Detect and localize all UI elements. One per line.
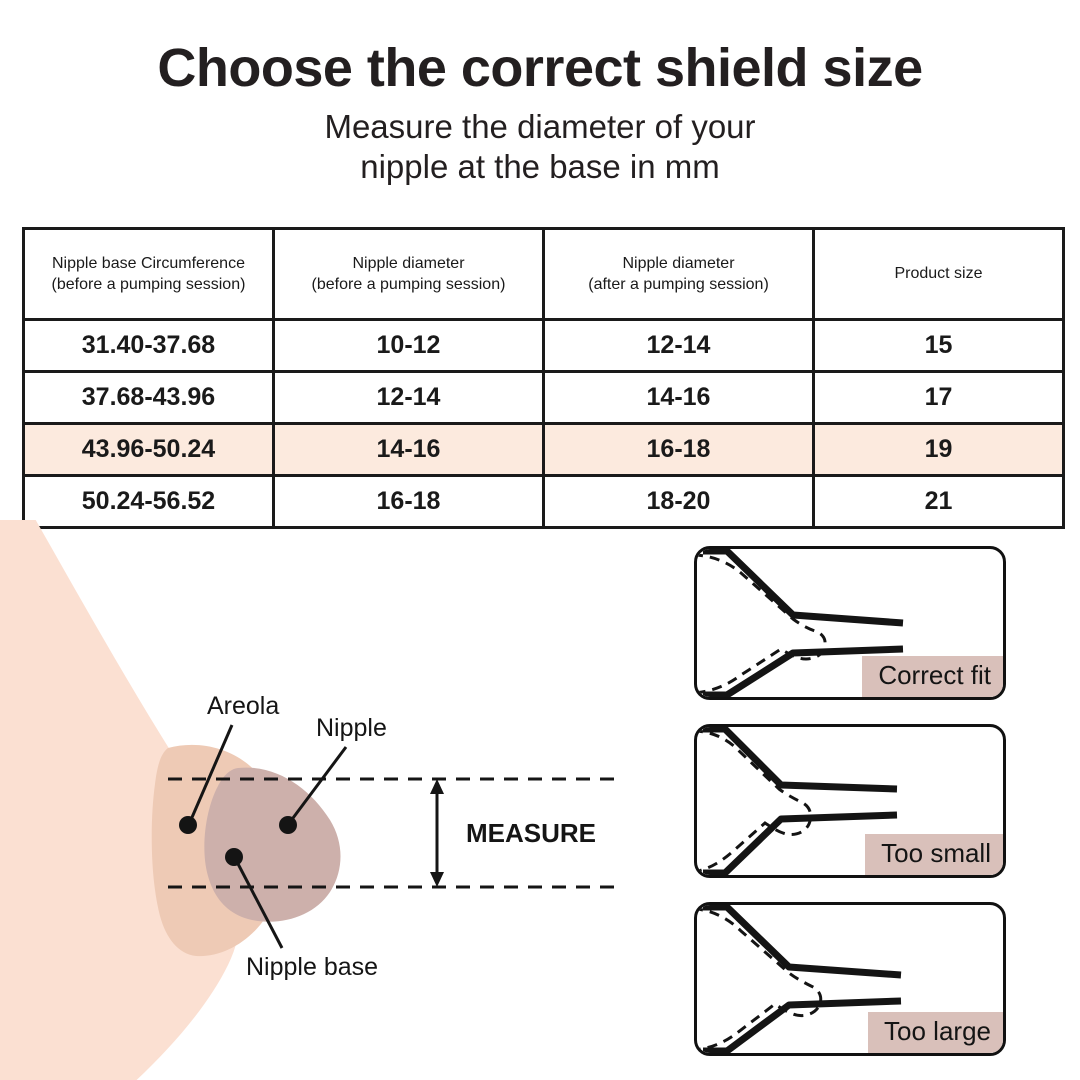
- cell-diameter-before: 12-14: [274, 372, 544, 424]
- shield-funnel-upper-correct: [703, 551, 903, 623]
- infographic-page: Choose the correct shield size Measure t…: [0, 0, 1080, 1080]
- table-body: 31.40-37.68 10-12 12-14 15 37.68-43.96 1…: [24, 320, 1064, 528]
- column-header-diameter-before: Nipple diameter (before a pumping sessio…: [274, 229, 544, 320]
- header: Choose the correct shield size Measure t…: [0, 40, 1080, 187]
- cell-product-size: 17: [814, 372, 1064, 424]
- breast-anatomy-diagram: MEASURE Areola Nipple Nipple base: [0, 520, 680, 1080]
- nipple-label: Nipple: [316, 714, 387, 742]
- fit-panel-label-correct-fit: Correct fit: [862, 656, 1003, 697]
- page-title: Choose the correct shield size: [0, 40, 1080, 97]
- table-row: 37.68-43.96 12-14 14-16 17: [24, 372, 1064, 424]
- shield-funnel-upper-too-large: [703, 907, 901, 975]
- shield-funnel-upper-too-small: [703, 729, 897, 789]
- cell-diameter-before: 10-12: [274, 320, 544, 372]
- page-subtitle: Measure the diameter of your nipple at t…: [0, 107, 1080, 188]
- cell-circumference: 43.96-50.24: [24, 424, 274, 476]
- nipple-outline-dashed-too-small: [697, 731, 811, 872]
- nipple-base-label: Nipple base: [246, 953, 378, 981]
- cell-circumference: 31.40-37.68: [24, 320, 274, 372]
- table-row-highlighted: 43.96-50.24 14-16 16-18 19: [24, 424, 1064, 476]
- column-header-diameter-after: Nipple diameter (after a pumping session…: [544, 229, 814, 320]
- fit-panel-too-small: Too small: [694, 724, 1006, 878]
- nipple-point: [279, 816, 297, 834]
- fit-panel-label-too-small: Too small: [865, 834, 1003, 875]
- cell-circumference: 37.68-43.96: [24, 372, 274, 424]
- cell-diameter-after: 14-16: [544, 372, 814, 424]
- fit-panel-correct-fit: Correct fit: [694, 546, 1006, 700]
- nipple-base-point: [225, 848, 243, 866]
- areola-point: [179, 816, 197, 834]
- measure-label: MEASURE: [466, 818, 596, 848]
- cell-product-size: 19: [814, 424, 1064, 476]
- column-header-product-size: Product size: [814, 229, 1064, 320]
- column-header-circumference: Nipple base Circumference (before a pump…: [24, 229, 274, 320]
- nipple-shape: [204, 768, 340, 922]
- table-header: Nipple base Circumference (before a pump…: [24, 229, 1064, 320]
- measure-arrow: [430, 779, 444, 887]
- fit-comparison-panels: Correct fit Too small Too large: [694, 546, 1010, 1056]
- areola-label: Areola: [207, 692, 279, 720]
- shield-size-table: Nipple base Circumference (before a pump…: [22, 227, 1065, 529]
- table-row: 31.40-37.68 10-12 12-14 15: [24, 320, 1064, 372]
- fit-panel-label-too-large: Too large: [868, 1012, 1003, 1053]
- cell-product-size: 15: [814, 320, 1064, 372]
- cell-product-size: 21: [814, 476, 1064, 528]
- cell-diameter-after: 12-14: [544, 320, 814, 372]
- cell-diameter-before: 14-16: [274, 424, 544, 476]
- fit-panel-too-large: Too large: [694, 902, 1006, 1056]
- table-header-row: Nipple base Circumference (before a pump…: [24, 229, 1064, 320]
- cell-diameter-after: 16-18: [544, 424, 814, 476]
